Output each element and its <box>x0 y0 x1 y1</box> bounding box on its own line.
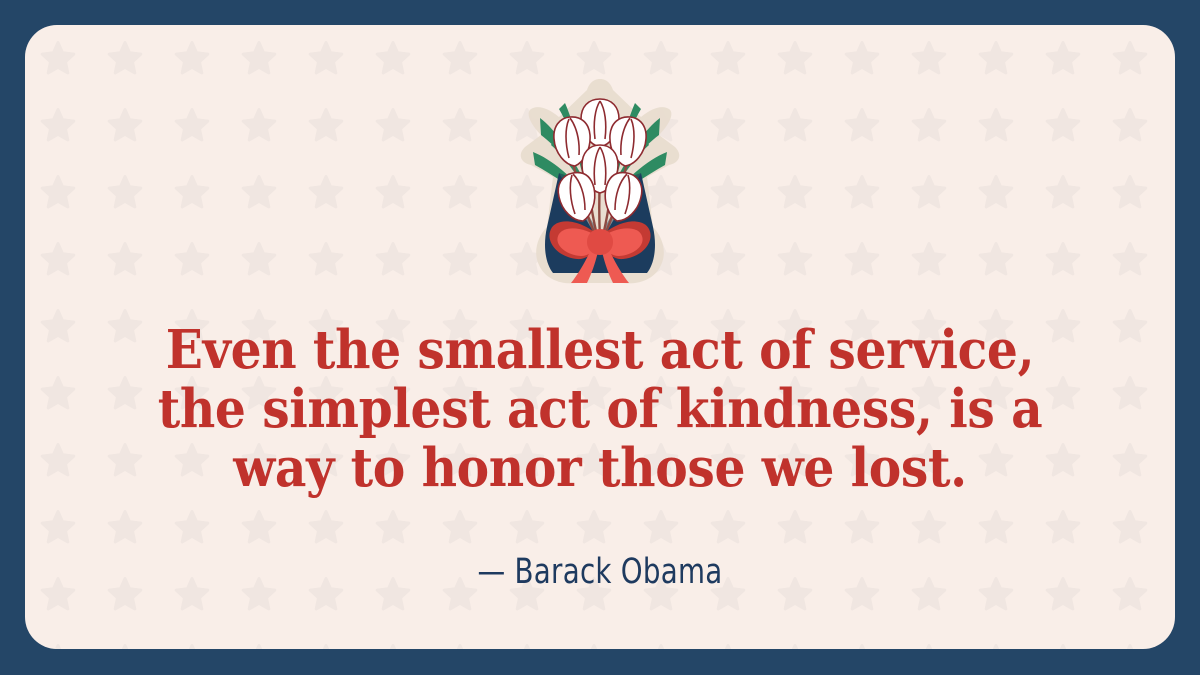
quote-text: Even the smallest act of service, the si… <box>25 321 1175 498</box>
quote-line-2: the simplest act of kindness, is a <box>71 380 1129 439</box>
quote-line-3: way to honor those we lost. <box>71 439 1129 498</box>
navy-frame: Even the smallest act of service, the si… <box>0 0 1200 675</box>
tulip-bouquet-icon <box>507 77 693 289</box>
quote-line-1: Even the smallest act of service, <box>71 321 1129 380</box>
quote-card: Even the smallest act of service, the si… <box>25 25 1175 649</box>
quote-attribution: — Barack Obama <box>94 550 1106 594</box>
